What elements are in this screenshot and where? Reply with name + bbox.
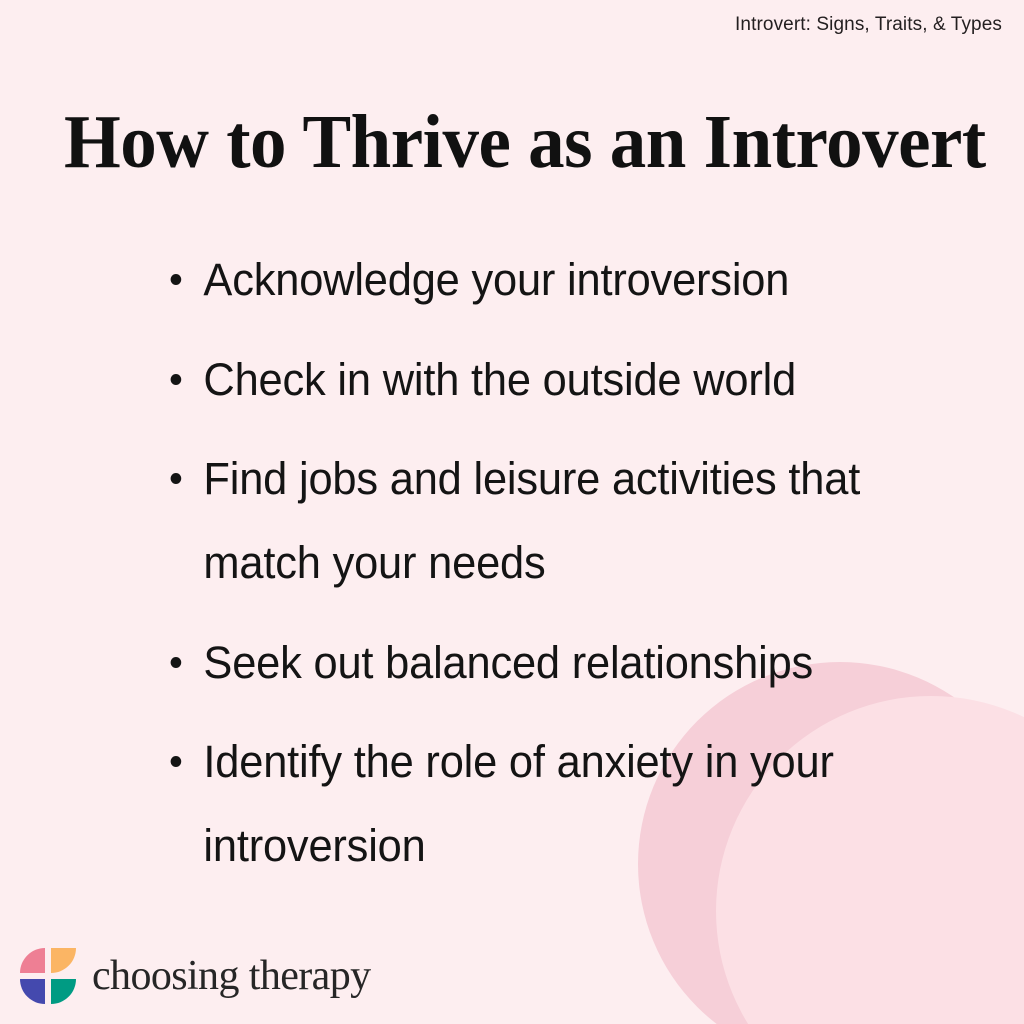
bullet-dot-icon [171,274,182,285]
logo-quadrant-top-left [20,948,45,973]
list-item: Check in with the outside world [160,338,922,422]
infographic-canvas: Introvert: Signs, Traits, & Types How to… [0,0,1024,1024]
logo-quadrant-bottom-right [51,979,76,1004]
list-item: Acknowledge your introversion [160,238,922,322]
brand-wordmark: choosing therapy [92,955,371,997]
logo-quadrant-bottom-left [20,979,45,1004]
tips-list: Acknowledge your introversion Check in w… [160,238,950,888]
list-item: Seek out balanced relationships [160,621,922,705]
content-area: Introvert: Signs, Traits, & Types How to… [0,0,1024,1024]
list-item-label: Find jobs and leisure activities that ma… [203,437,922,604]
bullet-dot-icon [171,374,182,385]
brand-logo: choosing therapy [20,948,371,1004]
list-item-label: Seek out balanced relationships [203,621,922,705]
article-kicker: Introvert: Signs, Traits, & Types [735,14,1002,37]
bullet-dot-icon [171,473,182,484]
bullet-dot-icon [171,756,182,767]
list-item-label: Identify the role of anxiety in your int… [203,720,922,887]
list-item: Find jobs and leisure activities that ma… [160,437,922,604]
logo-quadrant-top-right [51,948,76,973]
bullet-dot-icon [171,657,182,668]
list-item-label: Acknowledge your introversion [203,238,922,322]
list-item-label: Check in with the outside world [203,338,922,422]
list-item: Identify the role of anxiety in your int… [160,720,922,887]
choosing-therapy-logo-icon [20,948,76,1004]
page-title: How to Thrive as an Introvert [64,104,933,180]
